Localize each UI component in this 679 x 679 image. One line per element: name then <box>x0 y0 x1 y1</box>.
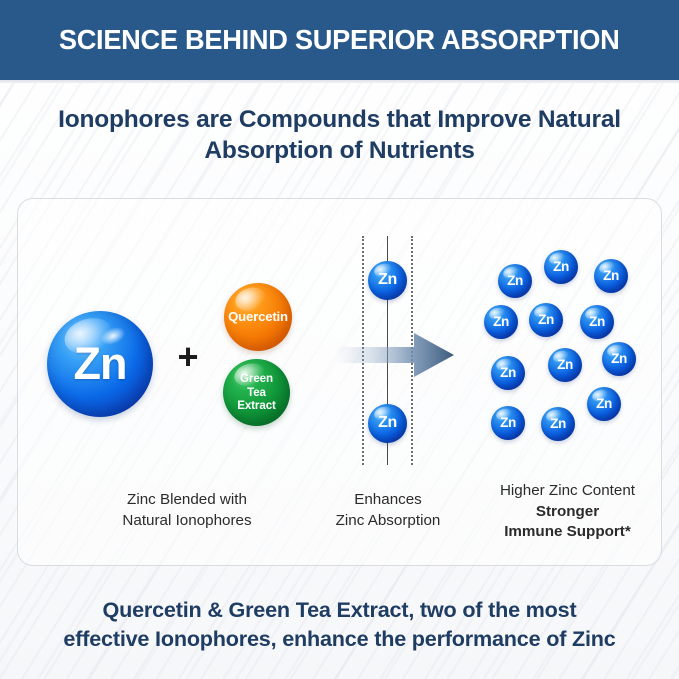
green-tea-extract-label: Green Tea Extract <box>237 372 276 413</box>
zinc-cluster-sphere-label: Zn <box>500 366 516 380</box>
absorption-arrow-icon <box>336 330 456 380</box>
tagline: Quercetin & Green Tea Extract, two of th… <box>36 595 643 653</box>
zinc-cluster-sphere: Zn <box>498 264 532 298</box>
zinc-cluster-sphere-label: Zn <box>611 352 627 366</box>
zinc-cluster-sphere-label: Zn <box>603 269 619 283</box>
zinc-sphere-membrane-top: Zn <box>368 261 407 300</box>
zinc-cluster-sphere-label: Zn <box>596 397 612 411</box>
zinc-cluster-sphere-label: Zn <box>557 358 573 372</box>
left-caption-line-2: Natural Ionophores <box>82 511 292 532</box>
zinc-sphere-membrane-bottom: Zn <box>368 404 407 443</box>
zinc-cluster-sphere: Zn <box>587 387 621 421</box>
tagline-line-1: Quercetin & Green Tea Extract, two of th… <box>36 595 643 624</box>
zinc-cluster-sphere: Zn <box>594 259 628 293</box>
zinc-sphere-large: Zn <box>47 311 153 417</box>
right-caption-line-1: Higher Zinc Content <box>470 481 665 502</box>
green-tea-extract-sphere: Green Tea Extract <box>223 359 290 426</box>
quercetin-sphere: Quercetin <box>224 283 292 351</box>
zinc-cluster-sphere-label: Zn <box>553 260 569 274</box>
zinc-cluster-sphere: Zn <box>484 305 518 339</box>
left-panel-caption: Zinc Blended with Natural Ionophores <box>82 490 292 531</box>
green-tea-line-3: Extract <box>237 399 276 412</box>
zinc-cluster-sphere-label: Zn <box>589 315 605 329</box>
zinc-cluster-sphere: Zn <box>541 407 575 441</box>
header-band: SCIENCE BEHIND SUPERIOR ABSORPTION <box>0 0 679 80</box>
zinc-cluster-sphere: Zn <box>491 406 525 440</box>
page-title: SCIENCE BEHIND SUPERIOR ABSORPTION <box>59 24 620 56</box>
zinc-cluster-sphere: Zn <box>529 303 563 337</box>
right-caption-line-2: Stronger <box>470 502 665 523</box>
tagline-line-2: effective Ionophores, enhance the perfor… <box>36 624 643 653</box>
middle-caption-line-1: Enhances <box>300 490 476 511</box>
zinc-cluster-sphere: Zn <box>580 305 614 339</box>
infographic-root: SCIENCE BEHIND SUPERIOR ABSORPTION Ionop… <box>0 0 679 679</box>
right-panel-caption: Higher Zinc Content Stronger Immune Supp… <box>470 481 665 543</box>
header-divider <box>0 80 679 83</box>
zinc-cluster-sphere: Zn <box>602 342 636 376</box>
zinc-cluster-sphere: Zn <box>491 356 525 390</box>
right-caption-line-3: Immune Support* <box>470 522 665 543</box>
zinc-membrane-top-label: Zn <box>378 272 397 288</box>
zinc-cluster-sphere-label: Zn <box>538 313 554 327</box>
zinc-sphere-label: Zn <box>74 341 127 387</box>
zinc-membrane-bottom-label: Zn <box>378 415 397 431</box>
left-caption-line-1: Zinc Blended with <box>82 490 292 511</box>
green-tea-line-1: Green <box>240 372 273 385</box>
plus-icon: + <box>172 341 204 373</box>
quercetin-label: Quercetin <box>228 310 288 323</box>
zinc-cluster-sphere: Zn <box>544 250 578 284</box>
zinc-cluster-sphere-label: Zn <box>550 417 566 431</box>
zinc-cluster-sphere-label: Zn <box>493 315 509 329</box>
middle-panel-caption: Enhances Zinc Absorption <box>300 490 476 531</box>
green-tea-line-2: Tea <box>247 386 266 399</box>
middle-caption-line-2: Zinc Absorption <box>300 511 476 532</box>
zinc-cluster-sphere-label: Zn <box>507 274 523 288</box>
zinc-cluster-sphere: Zn <box>548 348 582 382</box>
subtitle: Ionophores are Compounds that Improve Na… <box>40 104 639 166</box>
zinc-cluster-sphere-label: Zn <box>500 416 516 430</box>
